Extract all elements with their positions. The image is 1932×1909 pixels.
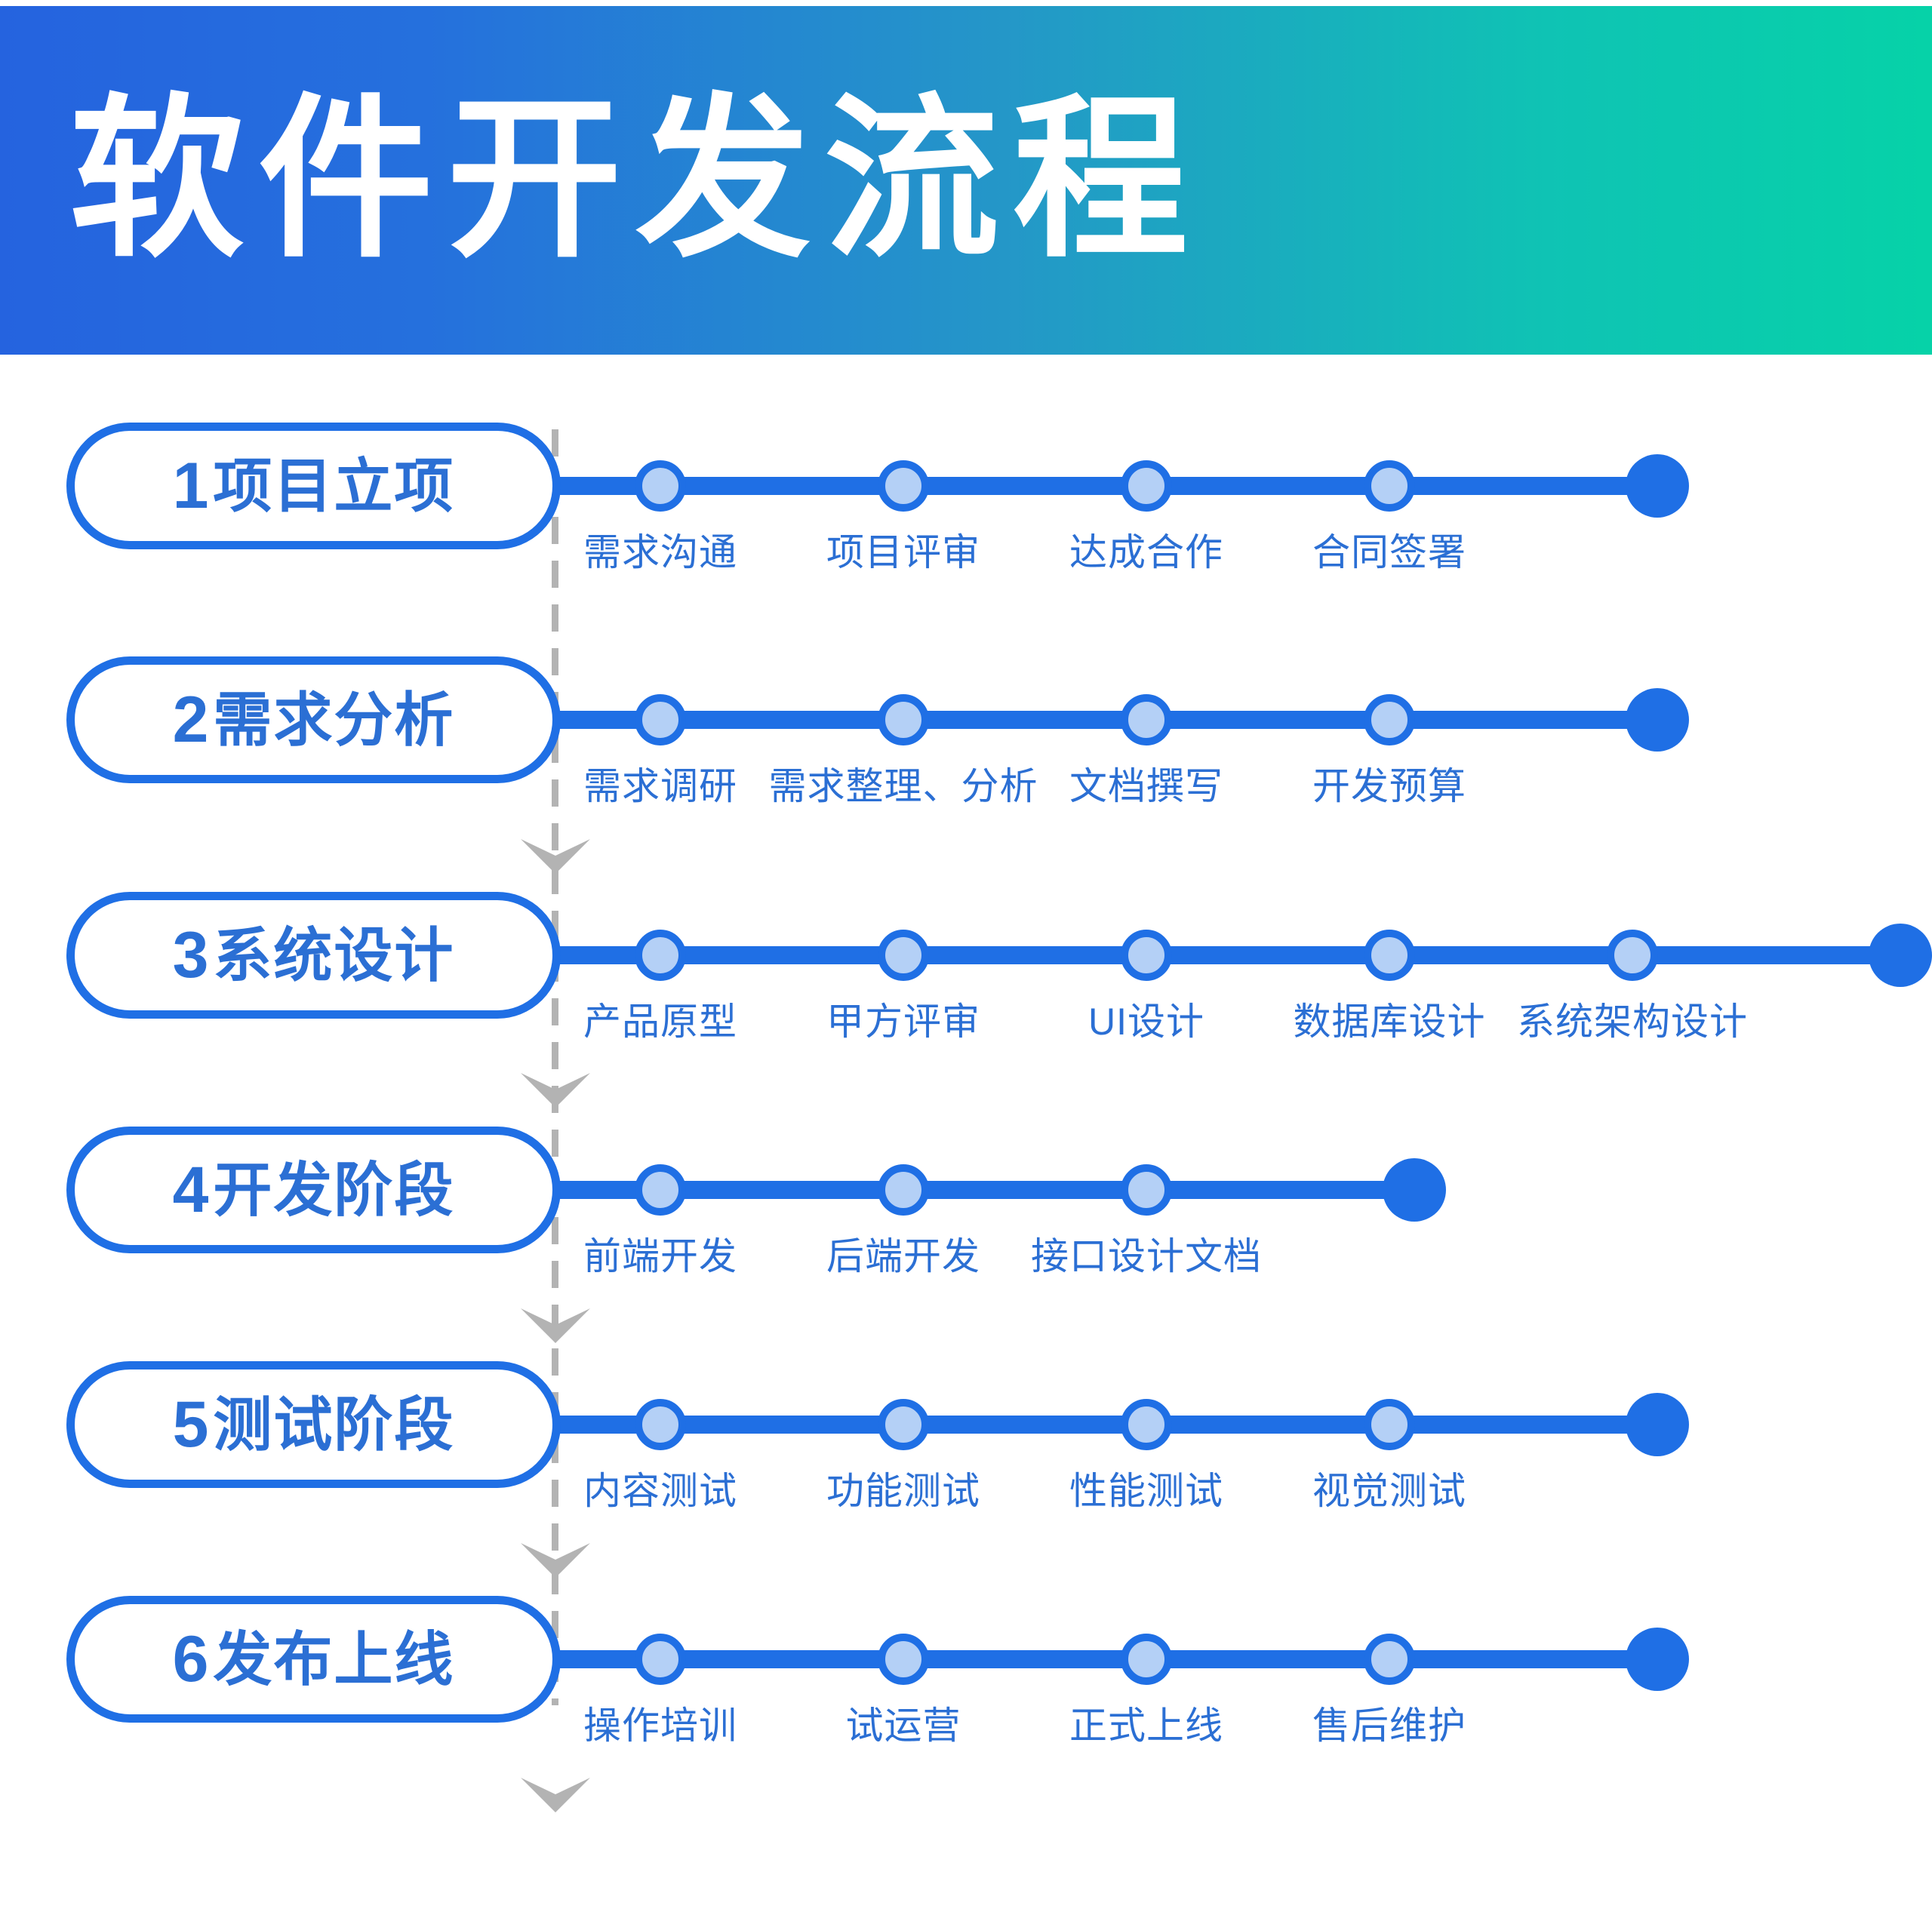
timeline-node-label: UI设计 [1088, 991, 1204, 1046]
step-number: 1 [173, 453, 209, 518]
step-label: 项目立项 [213, 456, 454, 515]
timeline-node-dot[interactable] [635, 1399, 686, 1450]
step-label: 开发阶段 [213, 1160, 454, 1219]
timeline-node-dot[interactable] [1121, 930, 1172, 981]
timeline-node-label: 操作培训 [583, 1695, 737, 1750]
page-title: 软件开发流程 [69, 93, 1201, 268]
timeline-node-dot[interactable] [635, 930, 686, 981]
timeline-track [555, 1416, 1657, 1434]
step-pill-1[interactable]: 1项目立项 [66, 423, 561, 549]
timeline-track [555, 1650, 1657, 1668]
timeline-node-label: 性能测试 [1069, 1461, 1223, 1515]
timeline-node-label: 正式上线 [1069, 1695, 1223, 1750]
timeline-node-label: 产品原型 [583, 991, 737, 1046]
timeline-node-dot[interactable] [635, 1634, 686, 1685]
timeline-node-label: 接口设计文档 [1031, 1226, 1262, 1280]
timeline-node-label: 文档撰写 [1069, 756, 1223, 810]
infographic-page: 软件开发流程 1项目立项需求沟通项目评审达成合作合同签署2需求分析需求调研需求整… [0, 0, 1932, 1909]
process-step-row: 5测试阶段内容测试功能测试性能测试视觉测试 [0, 1361, 1932, 1588]
timeline-track [555, 946, 1900, 964]
timeline-end-cap [1626, 1628, 1689, 1691]
timeline-node-label: 后端开发 [826, 1226, 980, 1280]
step-number: 6 [173, 1627, 209, 1692]
step-label: 测试阶段 [213, 1395, 454, 1454]
process-step-row: 2需求分析需求调研需求整理、分析文档撰写开发预算 [0, 656, 1932, 883]
process-step-row: 4开发阶段前端开发后端开发接口设计文档 [0, 1127, 1932, 1353]
timeline-node-label: 系统架构设计 [1517, 991, 1748, 1046]
timeline-node-label: 合同签署 [1312, 522, 1466, 576]
timeline-node-dot[interactable] [1364, 460, 1415, 512]
timeline-node-label: 数据库设计 [1294, 991, 1486, 1046]
step-number: 3 [173, 923, 209, 988]
step-label: 需求分析 [213, 690, 454, 749]
timeline-node-dot[interactable] [878, 930, 929, 981]
timeline-node-label: 视觉测试 [1312, 1461, 1466, 1515]
timeline-node-label: 前端开发 [583, 1226, 737, 1280]
step-label: 发布上线 [213, 1630, 454, 1689]
timeline-end-cap [1869, 924, 1932, 987]
timeline-node-dot[interactable] [1364, 930, 1415, 981]
step-pill-5[interactable]: 5测试阶段 [66, 1361, 561, 1488]
step-pill-3[interactable]: 3系统设计 [66, 892, 561, 1019]
process-step-row: 1项目立项需求沟通项目评审达成合作合同签署 [0, 423, 1932, 649]
step-pill-2[interactable]: 2需求分析 [66, 656, 561, 783]
timeline-node-dot[interactable] [878, 1634, 929, 1685]
step-label: 系统设计 [213, 926, 454, 985]
timeline-node-label: 需求整理、分析 [769, 756, 1038, 810]
timeline-node-dot[interactable] [1121, 1164, 1172, 1216]
timeline-node-dot[interactable] [1121, 694, 1172, 745]
process-flow: 1项目立项需求沟通项目评审达成合作合同签署2需求分析需求调研需求整理、分析文档撰… [0, 355, 1932, 1909]
timeline-node-dot[interactable] [1121, 1634, 1172, 1685]
step-pill-4[interactable]: 4开发阶段 [66, 1127, 561, 1253]
timeline-node-label: 开发预算 [1312, 756, 1466, 810]
timeline-node-dot[interactable] [635, 694, 686, 745]
process-step-row: 3系统设计产品原型甲方评审UI设计数据库设计系统架构设计 [0, 892, 1932, 1118]
timeline-node-dot[interactable] [1121, 460, 1172, 512]
timeline-node-dot[interactable] [878, 694, 929, 745]
timeline-track [555, 711, 1657, 729]
timeline-node-label: 达成合作 [1069, 522, 1223, 576]
step-number: 4 [173, 1157, 209, 1222]
timeline-node-dot[interactable] [1121, 1399, 1172, 1450]
timeline-node-dot[interactable] [1364, 694, 1415, 745]
header-banner: 软件开发流程 [0, 6, 1932, 355]
step-number: 5 [173, 1392, 209, 1457]
timeline-node-dot[interactable] [635, 1164, 686, 1216]
timeline-node-label: 甲方评审 [826, 991, 980, 1046]
timeline-node-dot[interactable] [635, 460, 686, 512]
timeline-node-dot[interactable] [878, 1399, 929, 1450]
process-step-row: 6发布上线操作培训试运营正式上线售后维护 [0, 1596, 1932, 1822]
timeline-node-dot[interactable] [1364, 1634, 1415, 1685]
timeline-node-label: 试运营 [846, 1695, 961, 1750]
timeline-node-dot[interactable] [1607, 930, 1658, 981]
timeline-node-label: 需求调研 [583, 756, 737, 810]
timeline-end-cap [1626, 688, 1689, 752]
timeline-end-cap [1383, 1158, 1446, 1222]
timeline-node-label: 功能测试 [826, 1461, 980, 1515]
timeline-node-dot[interactable] [878, 1164, 929, 1216]
step-number: 2 [173, 687, 209, 752]
step-pill-6[interactable]: 6发布上线 [66, 1596, 561, 1723]
timeline-end-cap [1626, 1393, 1689, 1456]
timeline-node-dot[interactable] [1364, 1399, 1415, 1450]
timeline-node-dot[interactable] [878, 460, 929, 512]
timeline-node-label: 售后维护 [1312, 1695, 1466, 1750]
timeline-node-label: 内容测试 [583, 1461, 737, 1515]
timeline-node-label: 需求沟通 [583, 522, 737, 576]
timeline-end-cap [1626, 454, 1689, 518]
timeline-track [555, 477, 1657, 495]
timeline-node-label: 项目评审 [826, 522, 980, 576]
